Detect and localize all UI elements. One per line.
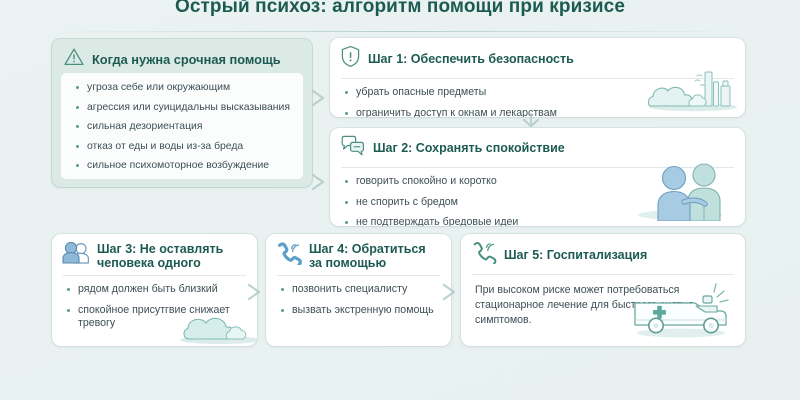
list-item: сильная дезориентация (75, 120, 293, 133)
step-1-list: убрать опасные предметы ограничить досту… (330, 79, 745, 117)
alert-card-panel: угроза себе или окружающим агрессия или … (61, 73, 303, 179)
list-item: угроза себе или окружающим (75, 81, 293, 94)
two-persons-icon (62, 242, 90, 269)
warning-triangle-icon (63, 47, 85, 72)
page-header: Острый психоз: алгоритм помощи при кризи… (0, 0, 800, 20)
list-item: рядом должен быть близкий (66, 283, 245, 296)
chevron-right-icon (246, 282, 264, 302)
step-3-header: Шаг 3: Не оставлять чеповека одного (52, 234, 257, 275)
step-4-header: Шаг 4: Обратиться за помощью (266, 234, 451, 275)
step-2-header: Шаг 2: Сохранять спокойствие (330, 128, 745, 167)
list-item: не подтверждать бредовые идеи (344, 216, 733, 226)
step-5-card: Шаг 5: Госпитализация При высоком риске … (461, 234, 745, 346)
chevron-right-icon (310, 88, 328, 108)
page-title: Острый психоз: алгоритм помощи при кризи… (0, 0, 800, 20)
alert-card: Когда нужна срочная помощь угроза себе и… (52, 39, 312, 187)
step-5-body: При высоком риске может потребоваться ст… (461, 275, 745, 337)
list-item: вызвать экстренную помощь (280, 304, 439, 317)
step-3-card: Шаг 3: Не оставлять чеповека одного рядо… (52, 234, 257, 346)
step-1-header: Шаг 1: Обеспечить безопасность (330, 38, 745, 78)
step-4-card: Шаг 4: Обратиться за помощью позвонить с… (266, 234, 451, 346)
step-4-title: Шаг 4: Обратиться за помощью (309, 242, 441, 270)
step-4-list: позвонить специалисту вызвать экстренную… (266, 276, 451, 326)
list-item: говорить спокойно и коротко (344, 175, 733, 188)
alert-card-title: Когда нужна срочная помощь (92, 52, 281, 67)
alert-card-list: угроза себе или окружающим агрессия или … (61, 73, 303, 185)
title-divider (55, 31, 745, 32)
chevron-down-icon (518, 113, 544, 128)
step-2-list: говорить спокойно и коротко не спорить с… (330, 168, 745, 226)
shield-exclamation-icon (340, 45, 361, 73)
step-2-title: Шаг 2: Сохранять спокойствие (373, 141, 565, 156)
chevron-right-icon (441, 282, 459, 302)
phone-signal-icon (276, 242, 302, 270)
step-1-card: Шаг 1: Обеспечить безопасность убрать оп… (330, 38, 745, 117)
list-item: убрать опасные предметы (344, 86, 733, 99)
step-1-title: Шаг 1: Обеспечить безопасность (368, 52, 574, 67)
speech-bubbles-icon (340, 135, 366, 162)
list-item: позвонить специалисту (280, 283, 439, 296)
step-5-header: Шаг 5: Госпитализация (461, 234, 745, 274)
list-item: отказ от еды и воды из-за бреда (75, 140, 293, 153)
phone-signal-teal-icon (471, 241, 497, 269)
step-3-list: рядом должен быть близкий спокойное прис… (52, 276, 257, 339)
list-item: агрессия или суицидальны высказывания (75, 101, 293, 114)
list-item: сильное психомоторное возбуждение (75, 159, 293, 172)
step-5-title: Шаг 5: Госпитализация (504, 248, 647, 263)
step-3-title: Шаг 3: Не оставлять чеповека одного (97, 242, 247, 270)
list-item: спокойное присутгвие снижает тревогу (66, 304, 245, 330)
chevron-right-icon (310, 172, 328, 192)
step-2-card: Шаг 2: Сохранять спокойствие говорить сп… (330, 128, 745, 226)
list-item: не спорить с бредом (344, 196, 733, 209)
